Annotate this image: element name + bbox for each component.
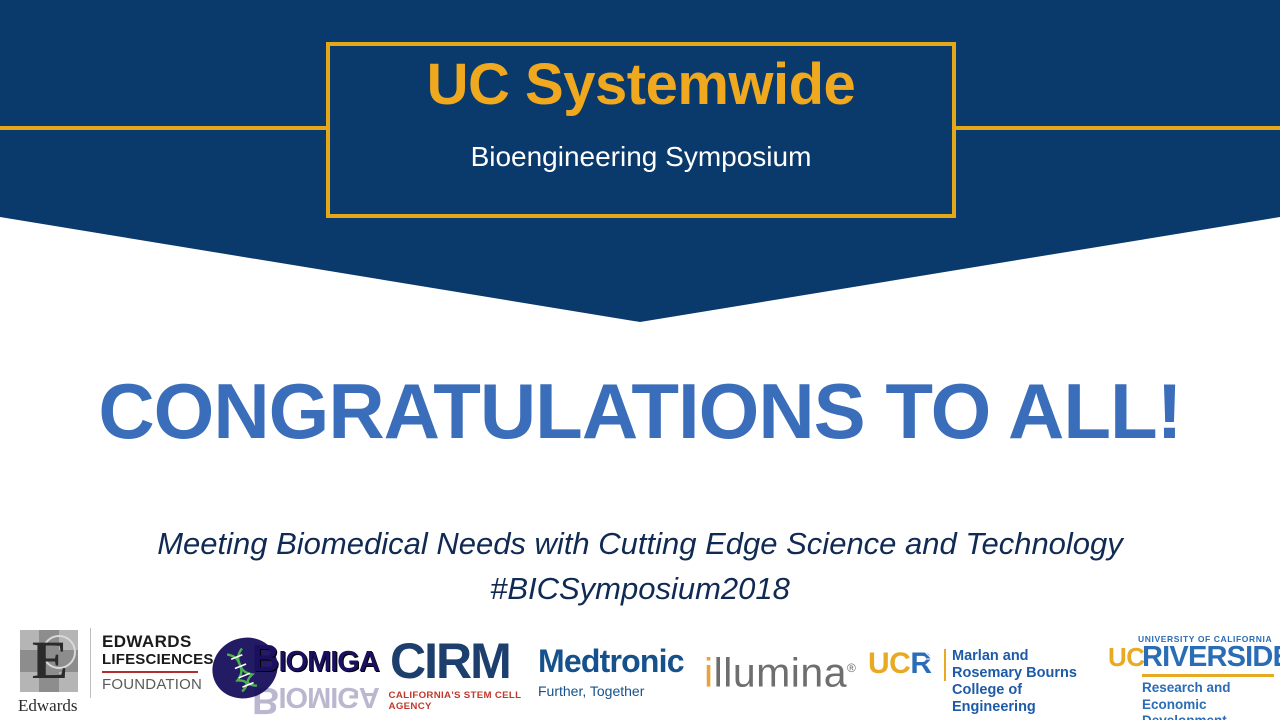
logo-edwards-lifesciences-foundation: E Edwards EDWARDS LIFESCIENCES FOUNDATIO… xyxy=(16,622,196,714)
uc-riverside-line-1: Research and xyxy=(1142,680,1276,697)
illumina-i: i xyxy=(704,650,714,696)
ucr-coe-text: Marlan and Rosemary Bourns College of En… xyxy=(952,648,1094,716)
medtronic-tagline: Further, Together xyxy=(538,683,694,699)
cirm-wordmark: CIRM xyxy=(390,636,538,686)
tagline-line-2: #BICSymposium2018 xyxy=(0,567,1280,612)
logo-medtronic: Medtronic Further, Together xyxy=(538,644,694,704)
ucr-monogram: UCR xyxy=(868,648,932,680)
main-content: CONGRATULATIONS TO ALL! Meeting Biomedic… xyxy=(0,330,1280,610)
ucr-uc: UC xyxy=(868,647,910,680)
biomiga-wordmark: BIOMIGA xyxy=(252,638,379,681)
logo-biomiga: BIOMIGA BIOMIGA xyxy=(208,634,380,714)
biomiga-rest: IOMIGA xyxy=(278,646,378,678)
banner-title: UC Systemwide xyxy=(427,52,856,119)
ucr-coe-line-1: Marlan and Rosemary Bourns xyxy=(952,648,1094,682)
headline: CONGRATULATIONS TO ALL! xyxy=(0,372,1280,450)
title-box: UC Systemwide Bioengineering Symposium xyxy=(326,42,956,218)
ucr-divider-bar xyxy=(944,649,946,681)
logo-uc-riverside-research: UNIVERSITY OF CALIFORNIA UC RIVERSIDE Re… xyxy=(1108,634,1276,714)
edwards-e-letter: E xyxy=(32,634,68,686)
edwards-emblem-icon: E xyxy=(20,630,78,692)
edwards-line-3: FOUNDATION xyxy=(102,676,198,693)
ucr-coe-line-2: College of Engineering xyxy=(952,682,1094,716)
illumina-rest: llumina xyxy=(714,650,847,696)
logo-cirm: CIRM CALIFORNIA'S STEM CELL AGENCY xyxy=(390,636,538,712)
edwards-line-1: EDWARDS xyxy=(102,632,198,651)
biomiga-b: B xyxy=(252,638,278,680)
medtronic-wordmark: Medtronic xyxy=(538,644,694,678)
illumina-wordmark: illumina® xyxy=(702,646,854,695)
edwards-divider xyxy=(90,628,91,698)
edwards-text-block: EDWARDS LIFESCIENCES FOUNDATION xyxy=(102,632,198,693)
uc-riverside-subtitle: Research and Economic Development xyxy=(1142,680,1276,720)
edwards-red-rule xyxy=(102,671,198,673)
cirm-tagline: CALIFORNIA'S STEM CELL AGENCY xyxy=(389,690,540,712)
ucr-starburst-icon xyxy=(923,650,941,668)
uc-riverside-wordmark: RIVERSIDE xyxy=(1142,642,1280,672)
uc-riverside-gold-underline xyxy=(1142,674,1274,677)
biomiga-reflection: BIOMIGA xyxy=(252,678,379,720)
banner-subtitle: Bioengineering Symposium xyxy=(471,141,812,173)
edwards-wordmark: Edwards xyxy=(18,696,77,716)
registered-trademark-icon: ® xyxy=(847,661,856,675)
uc-riverside-line-2: Economic Development xyxy=(1142,697,1276,720)
edwards-line-2: LIFESCIENCES xyxy=(102,651,198,669)
tagline-line-1: Meeting Biomedical Needs with Cutting Ed… xyxy=(157,526,1123,561)
logo-illumina: illumina® xyxy=(702,646,854,694)
sponsor-logo-strip: E Edwards EDWARDS LIFESCIENCES FOUNDATIO… xyxy=(0,612,1280,720)
tagline: Meeting Biomedical Needs with Cutting Ed… xyxy=(0,522,1280,612)
logo-ucr-college-of-engineering: UCR Marlan and Rosemary Bourns College o… xyxy=(868,648,1094,692)
